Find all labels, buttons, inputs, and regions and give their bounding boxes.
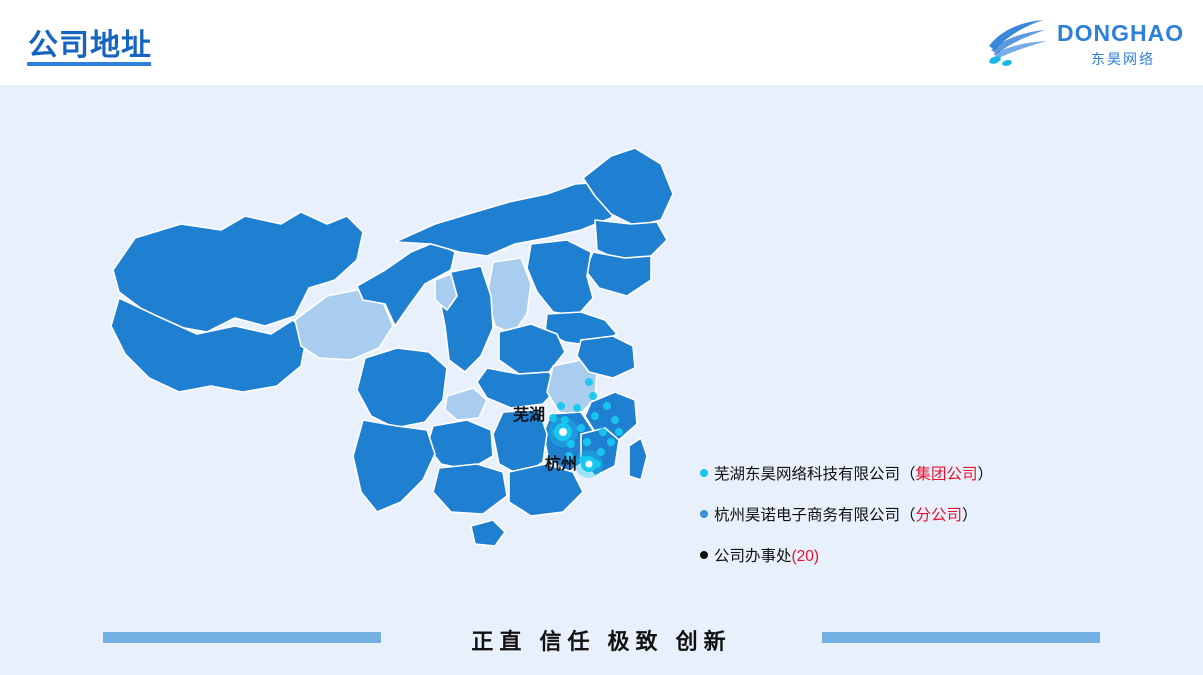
legend-item-text: 芜湖东昊网络科技有限公司（集团公司） [714, 462, 993, 484]
legend-dot-icon [700, 510, 708, 518]
legend: 芜湖东昊网络科技有限公司（集团公司） 杭州昊诺电子商务有限公司（分公司） 公司办… [700, 462, 1120, 585]
legend-dot-icon [700, 551, 708, 559]
slide-header: 公司地址 DONGHAO 东昊网络 [0, 0, 1203, 85]
list-item: 芜湖东昊网络科技有限公司（集团公司） [700, 462, 1120, 484]
legend-dot-icon [700, 469, 708, 477]
legend-item-text: 杭州昊诺电子商务有限公司（分公司） [714, 503, 978, 525]
legend-item-highlight: (20) [792, 548, 820, 565]
title-underline [27, 62, 151, 66]
legend-item-main: 公司办事处 [714, 548, 792, 565]
company-logo: DONGHAO 东昊网络 [981, 12, 1181, 74]
china-map-svg [95, 120, 715, 600]
legend-item-main: 芜湖东昊网络科技有限公司（ [714, 466, 916, 483]
legend-item-text: 公司办事处(20) [714, 544, 819, 566]
slide-root: 公司地址 DONGHAO 东昊网络 [0, 0, 1203, 675]
fan-burst-logo-icon [981, 16, 1053, 68]
legend-item-highlight: 集团公司 [916, 466, 978, 483]
china-map: 芜湖 杭州 [95, 120, 715, 600]
legend-item-tail: ） [962, 507, 978, 524]
page-title: 公司地址 [28, 20, 152, 64]
footer-bar-right [822, 632, 1100, 643]
list-item: 公司办事处(20) [700, 544, 1120, 566]
marker-wuhu-label: 芜湖 [513, 401, 545, 425]
marker-hangzhou-label: 杭州 [545, 450, 577, 474]
logo-text-cn: 东昊网络 [1091, 49, 1155, 69]
logo-text-en: DONGHAO [1057, 20, 1184, 47]
legend-item-highlight: 分公司 [916, 507, 963, 524]
marker-hangzhou [575, 450, 603, 478]
marker-wuhu [548, 417, 578, 447]
legend-item-tail: ） [978, 466, 994, 483]
list-item: 杭州昊诺电子商务有限公司（分公司） [700, 503, 1120, 525]
legend-item-main: 杭州昊诺电子商务有限公司（ [714, 507, 916, 524]
